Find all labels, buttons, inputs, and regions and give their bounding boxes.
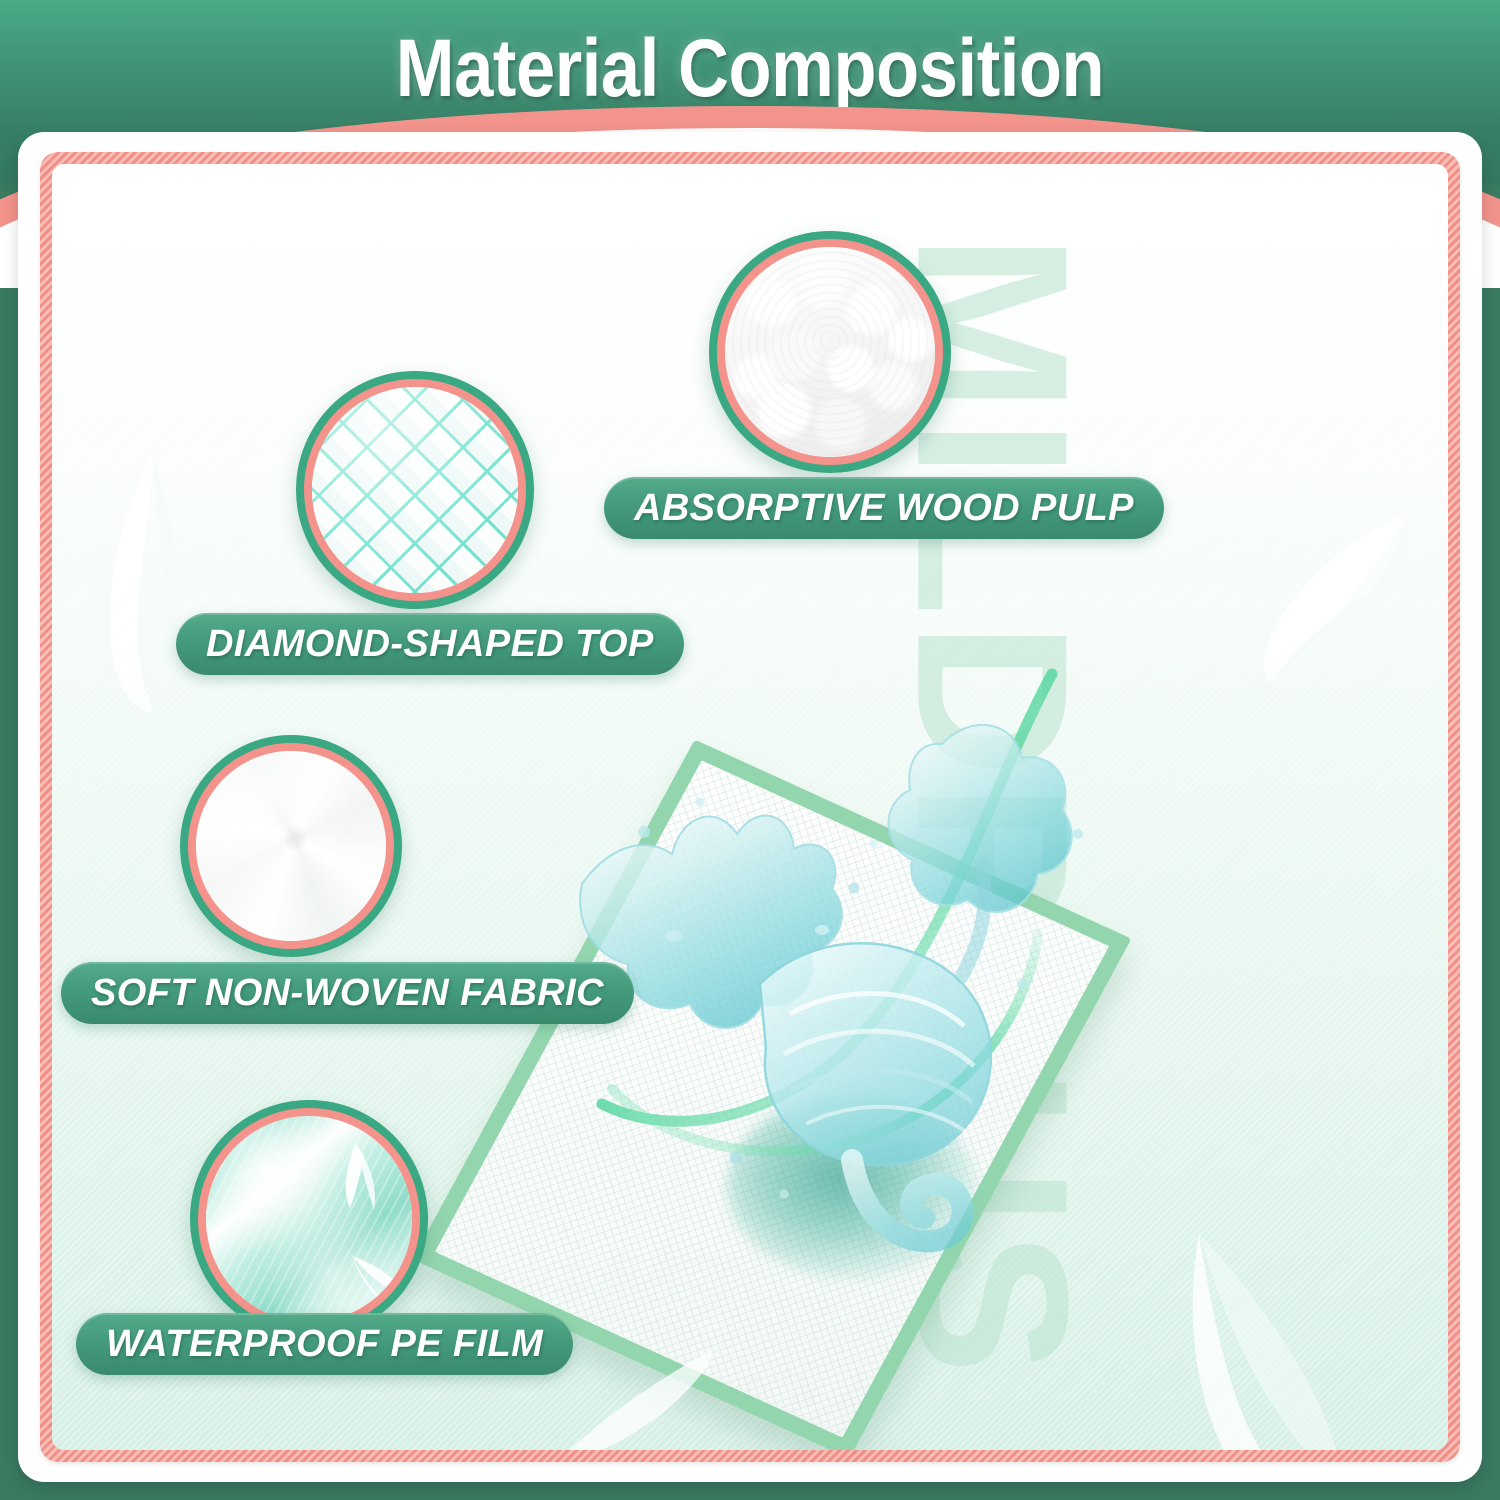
non-woven-swirl-texture (196, 751, 386, 941)
label-waterproof-pe-film[interactable]: WATERPROOF PE FILM (76, 1313, 573, 1375)
swatch-diamond-shaped-top[interactable] (296, 371, 534, 609)
label-absorptive-wood-pulp[interactable]: ABSORPTIVE WOOD PULP (604, 477, 1164, 539)
swatch-image-pe-film (206, 1116, 412, 1322)
page-title: Material Composition (105, 22, 1395, 116)
swatch-image-diamond-quilted (312, 387, 518, 593)
swatch-absorptive-wood-pulp[interactable] (709, 231, 951, 473)
product-pad (482, 764, 1242, 1450)
feather-decor-left (82, 444, 192, 724)
pe-film-feather-icon-2 (332, 1234, 412, 1322)
swatch-image-non-woven (196, 751, 386, 941)
swatch-image-wood-pulp (725, 247, 935, 457)
swatch-waterproof-pe-film[interactable] (190, 1100, 428, 1338)
content-panel: MILDPLUS (52, 164, 1448, 1450)
pe-film-feather-icon (316, 1134, 406, 1224)
swatch-soft-non-woven-fabric[interactable] (180, 735, 402, 957)
label-soft-non-woven-fabric[interactable]: SOFT NON-WOVEN FABRIC (61, 962, 634, 1024)
swatch-pink-ring (188, 743, 394, 949)
label-diamond-shaped-top[interactable]: DIAMOND-SHAPED TOP (176, 613, 684, 675)
absorption-wet-spot (727, 1094, 977, 1279)
swatch-pink-ring (198, 1108, 420, 1330)
swatch-pink-ring (304, 379, 526, 601)
wood-pulp-texture (725, 247, 935, 457)
feather-decor-upper-right (1247, 494, 1417, 694)
infographic-canvas: Material Composition MILDPLUS (0, 0, 1500, 1500)
diamond-quilt-texture (312, 387, 518, 593)
swatch-pink-ring (717, 239, 943, 465)
